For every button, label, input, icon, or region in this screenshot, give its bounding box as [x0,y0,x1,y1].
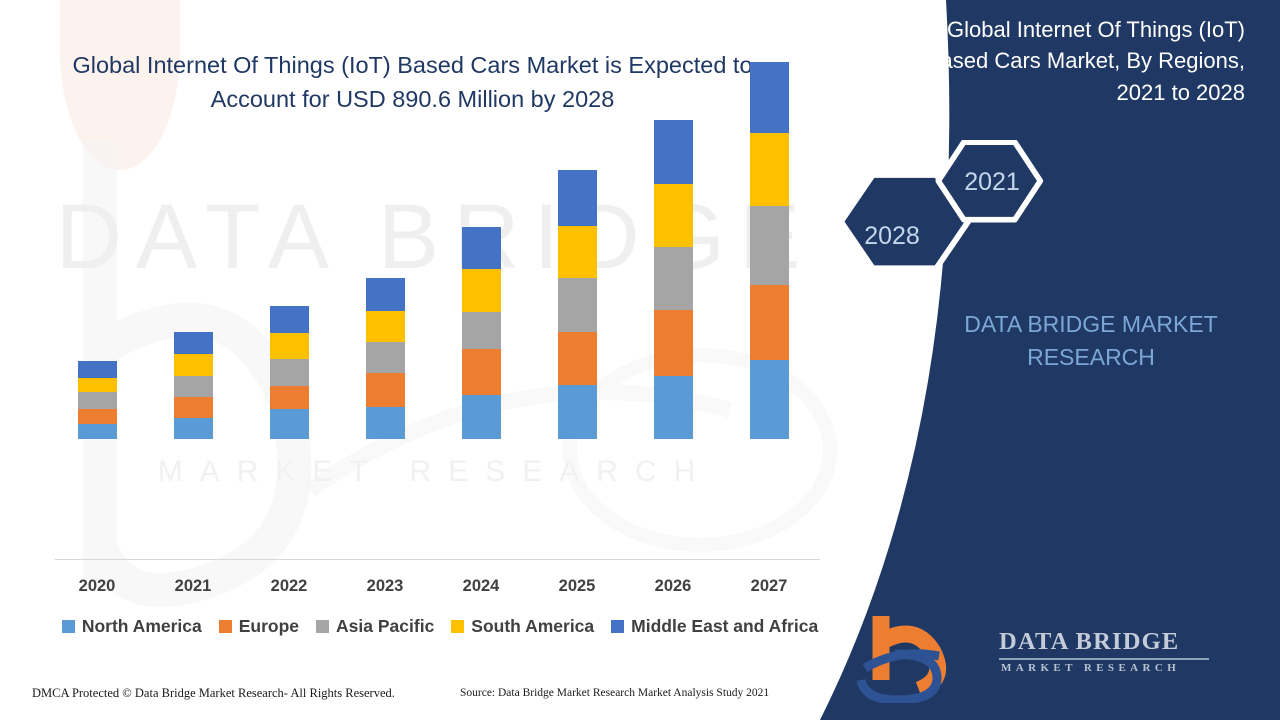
brand-name: DATA BRIDGE MARKET RESEARCH [936,308,1246,373]
bar-column-2023[interactable] [366,278,405,439]
bar-segment-middle-east-and-africa-2022[interactable] [270,306,309,333]
bar-segment-south-america-2027[interactable] [750,133,789,206]
legend-item-south-america[interactable]: South America [451,616,594,637]
right-panel-content: Global Internet Of Things (IoT) Based Ca… [820,0,1280,720]
bar-segment-europe-2022[interactable] [270,386,309,409]
bar-segment-europe-2025[interactable] [558,332,597,385]
legend-item-north-america[interactable]: North America [62,616,202,637]
infographic-canvas: DATA BRIDGE MARKET RESEARCH Global Inter… [0,0,1280,720]
bar-segment-europe-2027[interactable] [750,285,789,360]
bar-segment-europe-2024[interactable] [462,349,501,395]
bar-segment-asia-pacific-2020[interactable] [78,392,117,409]
bar-column-2025[interactable] [558,170,597,439]
left-chart-panel: DATA BRIDGE MARKET RESEARCH Global Inter… [0,0,900,720]
bar-segment-south-america-2020[interactable] [78,378,117,392]
legend-item-asia-pacific[interactable]: Asia Pacific [316,616,434,637]
source-note: Source: Data Bridge Market Research Mark… [460,687,769,699]
company-logo: DATA BRIDGE MARKET RESEARCH [851,608,1271,703]
bar-segment-middle-east-and-africa-2020[interactable] [78,361,117,378]
x-axis-label-2024: 2024 [441,577,521,596]
bar-segment-asia-pacific-2023[interactable] [366,342,405,373]
bar-segment-south-america-2024[interactable] [462,269,501,312]
legend-swatch-icon [451,620,464,633]
bar-segment-europe-2020[interactable] [78,409,117,424]
chart-legend: North AmericaEuropeAsia PacificSouth Ame… [50,616,830,637]
bar-segment-north-america-2022[interactable] [270,409,309,439]
bar-segment-north-america-2025[interactable] [558,385,597,439]
bar-segment-middle-east-and-africa-2021[interactable] [174,332,213,354]
logo-divider [999,658,1209,660]
x-axis-label-2026: 2026 [633,577,713,596]
legend-swatch-icon [62,620,75,633]
bar-segment-north-america-2021[interactable] [174,418,213,439]
bar-segment-middle-east-and-africa-2026[interactable] [654,120,693,184]
bar-column-2020[interactable] [78,361,117,439]
legend-swatch-icon [316,620,329,633]
logo-mark-icon [851,608,991,703]
bar-segment-asia-pacific-2027[interactable] [750,206,789,285]
legend-label: Middle East and Africa [631,616,818,637]
bar-segment-europe-2023[interactable] [366,373,405,407]
x-axis-line [55,559,820,560]
bar-segment-asia-pacific-2024[interactable] [462,312,501,349]
legend-label: Asia Pacific [336,616,434,637]
bar-segment-asia-pacific-2022[interactable] [270,359,309,386]
hexagon-2021-label: 2021 [964,168,1020,196]
bar-segment-south-america-2022[interactable] [270,333,309,359]
dmca-notice: DMCA Protected © Data Bridge Market Rese… [32,686,395,701]
x-axis-label-2020: 2020 [57,577,137,596]
bar-segment-north-america-2020[interactable] [78,424,117,439]
bar-segment-middle-east-and-africa-2027[interactable] [750,62,789,133]
bar-column-2024[interactable] [462,227,501,439]
legend-item-europe[interactable]: Europe [219,616,299,637]
legend-swatch-icon [611,620,624,633]
bar-column-2022[interactable] [270,306,309,439]
bar-segment-asia-pacific-2026[interactable] [654,247,693,310]
right-panel-title: Global Internet Of Things (IoT) Based Ca… [895,14,1245,108]
hexagon-2028-label: 2028 [864,222,920,250]
bar-column-2026[interactable] [654,120,693,439]
hexagon-group: 2028 2021 [820,140,1280,290]
bar-segment-north-america-2024[interactable] [462,395,501,439]
bar-segment-asia-pacific-2025[interactable] [558,278,597,332]
bar-segment-middle-east-and-africa-2024[interactable] [462,227,501,269]
bar-segment-middle-east-and-africa-2025[interactable] [558,170,597,226]
legend-label: South America [471,616,594,637]
bar-segment-north-america-2023[interactable] [366,407,405,439]
bar-segment-south-america-2021[interactable] [174,354,213,376]
bar-segment-south-america-2023[interactable] [366,311,405,342]
bar-segment-europe-2021[interactable] [174,397,213,418]
x-axis-label-2023: 2023 [345,577,425,596]
legend-label: North America [82,616,202,637]
right-brand-panel: Global Internet Of Things (IoT) Based Ca… [820,0,1280,720]
legend-swatch-icon [219,620,232,633]
chart-plot-area: 20202021202220232024202520262027 [0,0,870,600]
bar-segment-south-america-2025[interactable] [558,226,597,278]
logo-text-main: DATA BRIDGE [999,628,1179,656]
x-axis-label-2022: 2022 [249,577,329,596]
bar-segment-europe-2026[interactable] [654,310,693,376]
bar-segment-asia-pacific-2021[interactable] [174,376,213,397]
legend-item-middle-east-and-africa[interactable]: Middle East and Africa [611,616,818,637]
bar-segment-north-america-2026[interactable] [654,376,693,439]
bar-segment-middle-east-and-africa-2023[interactable] [366,278,405,311]
legend-label: Europe [239,616,299,637]
bar-segment-north-america-2027[interactable] [750,360,789,439]
x-axis-label-2027: 2027 [729,577,809,596]
bar-segment-south-america-2026[interactable] [654,184,693,247]
x-axis-label-2021: 2021 [153,577,233,596]
x-axis-label-2025: 2025 [537,577,617,596]
logo-text-sub: MARKET RESEARCH [1001,662,1180,674]
bar-column-2027[interactable] [750,62,789,439]
bar-column-2021[interactable] [174,332,213,439]
